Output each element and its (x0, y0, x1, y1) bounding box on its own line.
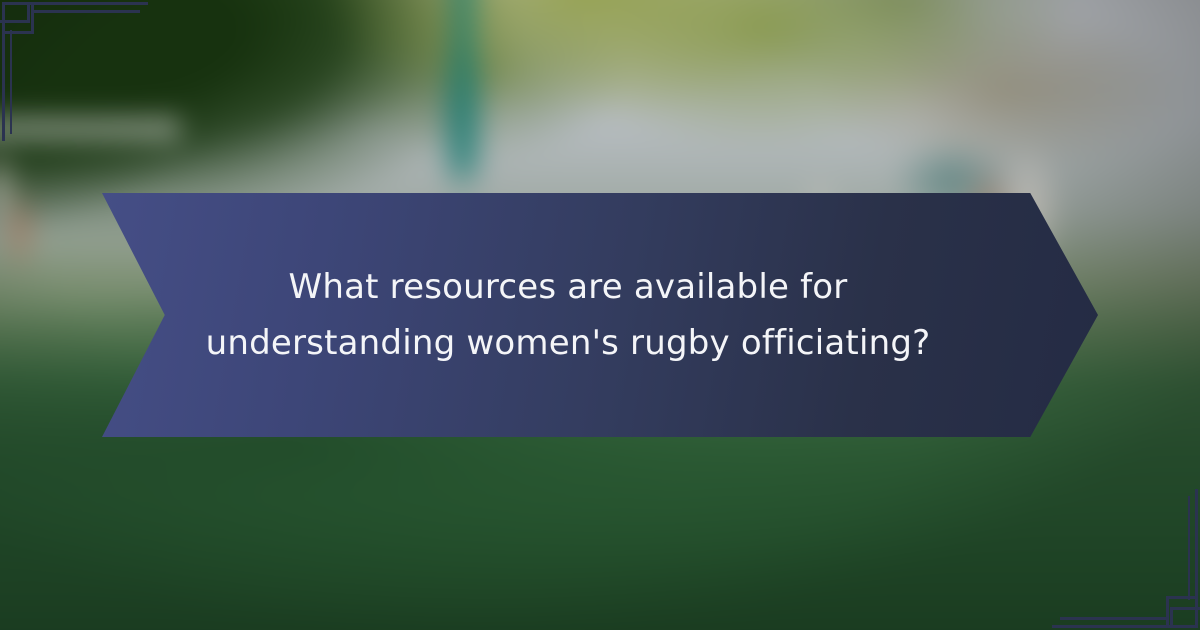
corner-rule-inner-vertical (10, 30, 12, 134)
corner-rule-outer-horizontal (28, 2, 148, 5)
corner-rule-outer-vertical (2, 23, 5, 141)
corner-elbow-vertical (27, 2, 30, 23)
corner-rule-outer-horizontal (1052, 625, 1172, 628)
headline-block: What resources are available for underst… (168, 193, 968, 437)
corner-elbow-horizontal (1170, 607, 1200, 610)
corner-rule-inner-horizontal (32, 10, 140, 13)
headline-line-1: What resources are available for (289, 263, 848, 311)
corner-bracket-top-left (0, 0, 170, 150)
corner-rule-outer-vertical (1195, 489, 1198, 607)
corner-bracket-bottom-right (1030, 480, 1200, 630)
headline-line-2: understanding women's rugby officiating? (206, 319, 931, 367)
corner-rule-inner-vertical (1188, 496, 1190, 600)
corner-elbow-vertical (1170, 607, 1173, 628)
social-share-card: What resources are available for underst… (0, 0, 1200, 630)
corner-rule-inner-horizontal (1060, 617, 1168, 620)
